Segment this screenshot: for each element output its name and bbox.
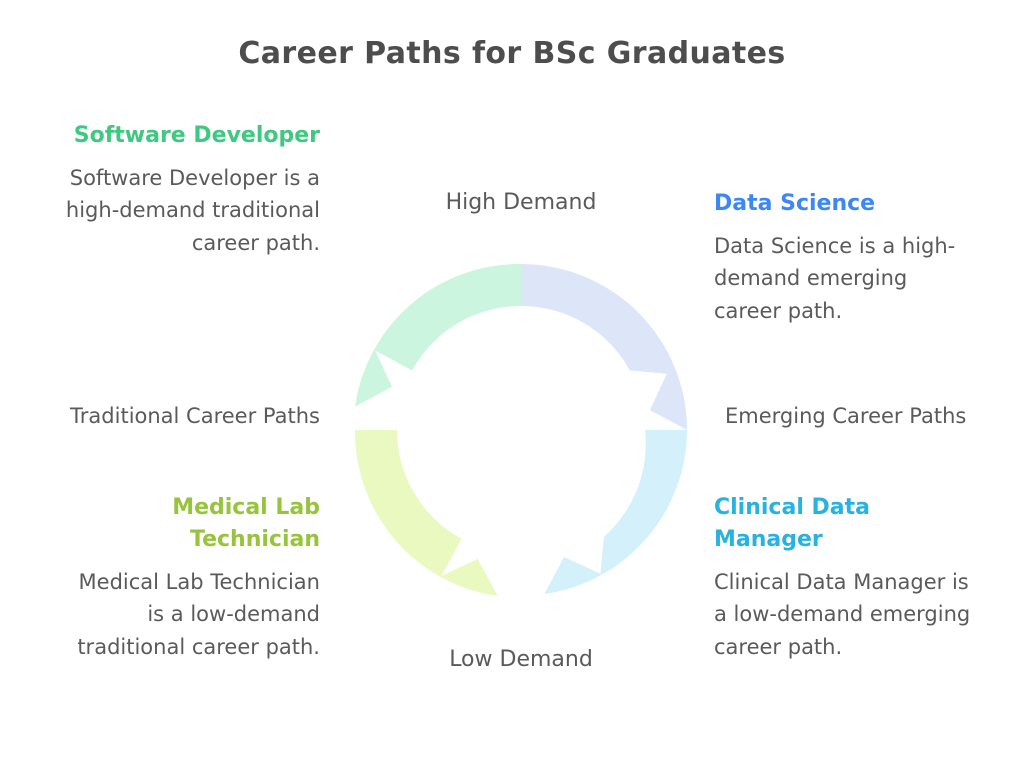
quadrant-top-left-description: Software Developer is a high-demand trad…	[58, 162, 320, 260]
low-demand-label: Low Demand	[371, 647, 671, 672]
cycle-arrows-svg	[355, 264, 687, 596]
arc-segment-bottom-right	[544, 430, 687, 594]
quadrant-bottom-right-description: Clinical Data Manager is a low-demand em…	[714, 566, 976, 664]
quadrant-bottom-left-heading: Medical Lab Technician	[58, 492, 320, 556]
quadrant-top-left: Software Developer Software Developer is…	[58, 120, 320, 260]
cycle-diagram	[355, 264, 687, 596]
quadrant-top-left-heading: Software Developer	[58, 120, 320, 152]
high-demand-label: High Demand	[371, 190, 671, 215]
group-label-emerging: Emerging Career Paths	[725, 400, 987, 433]
arc-segment-top-right	[521, 264, 687, 430]
page-title: Career Paths for BSc Graduates	[0, 36, 1024, 71]
arc-segment-top-left	[355, 264, 521, 407]
quadrant-bottom-left-description: Medical Lab Technician is a low-demand t…	[58, 566, 320, 664]
quadrant-bottom-left: Medical Lab Technician Medical Lab Techn…	[58, 492, 320, 663]
arc-segment-bottom-left	[355, 430, 498, 596]
quadrant-top-right-description: Data Science is a high-demand emerging c…	[714, 230, 976, 328]
quadrant-top-right-heading: Data Science	[714, 188, 976, 220]
quadrant-bottom-right-heading: Clinical Data Manager	[714, 492, 976, 556]
quadrant-top-right: Data Science Data Science is a high-dema…	[714, 188, 976, 328]
group-label-traditional: Traditional Career Paths	[58, 400, 320, 433]
quadrant-bottom-right: Clinical Data Manager Clinical Data Mana…	[714, 492, 976, 663]
